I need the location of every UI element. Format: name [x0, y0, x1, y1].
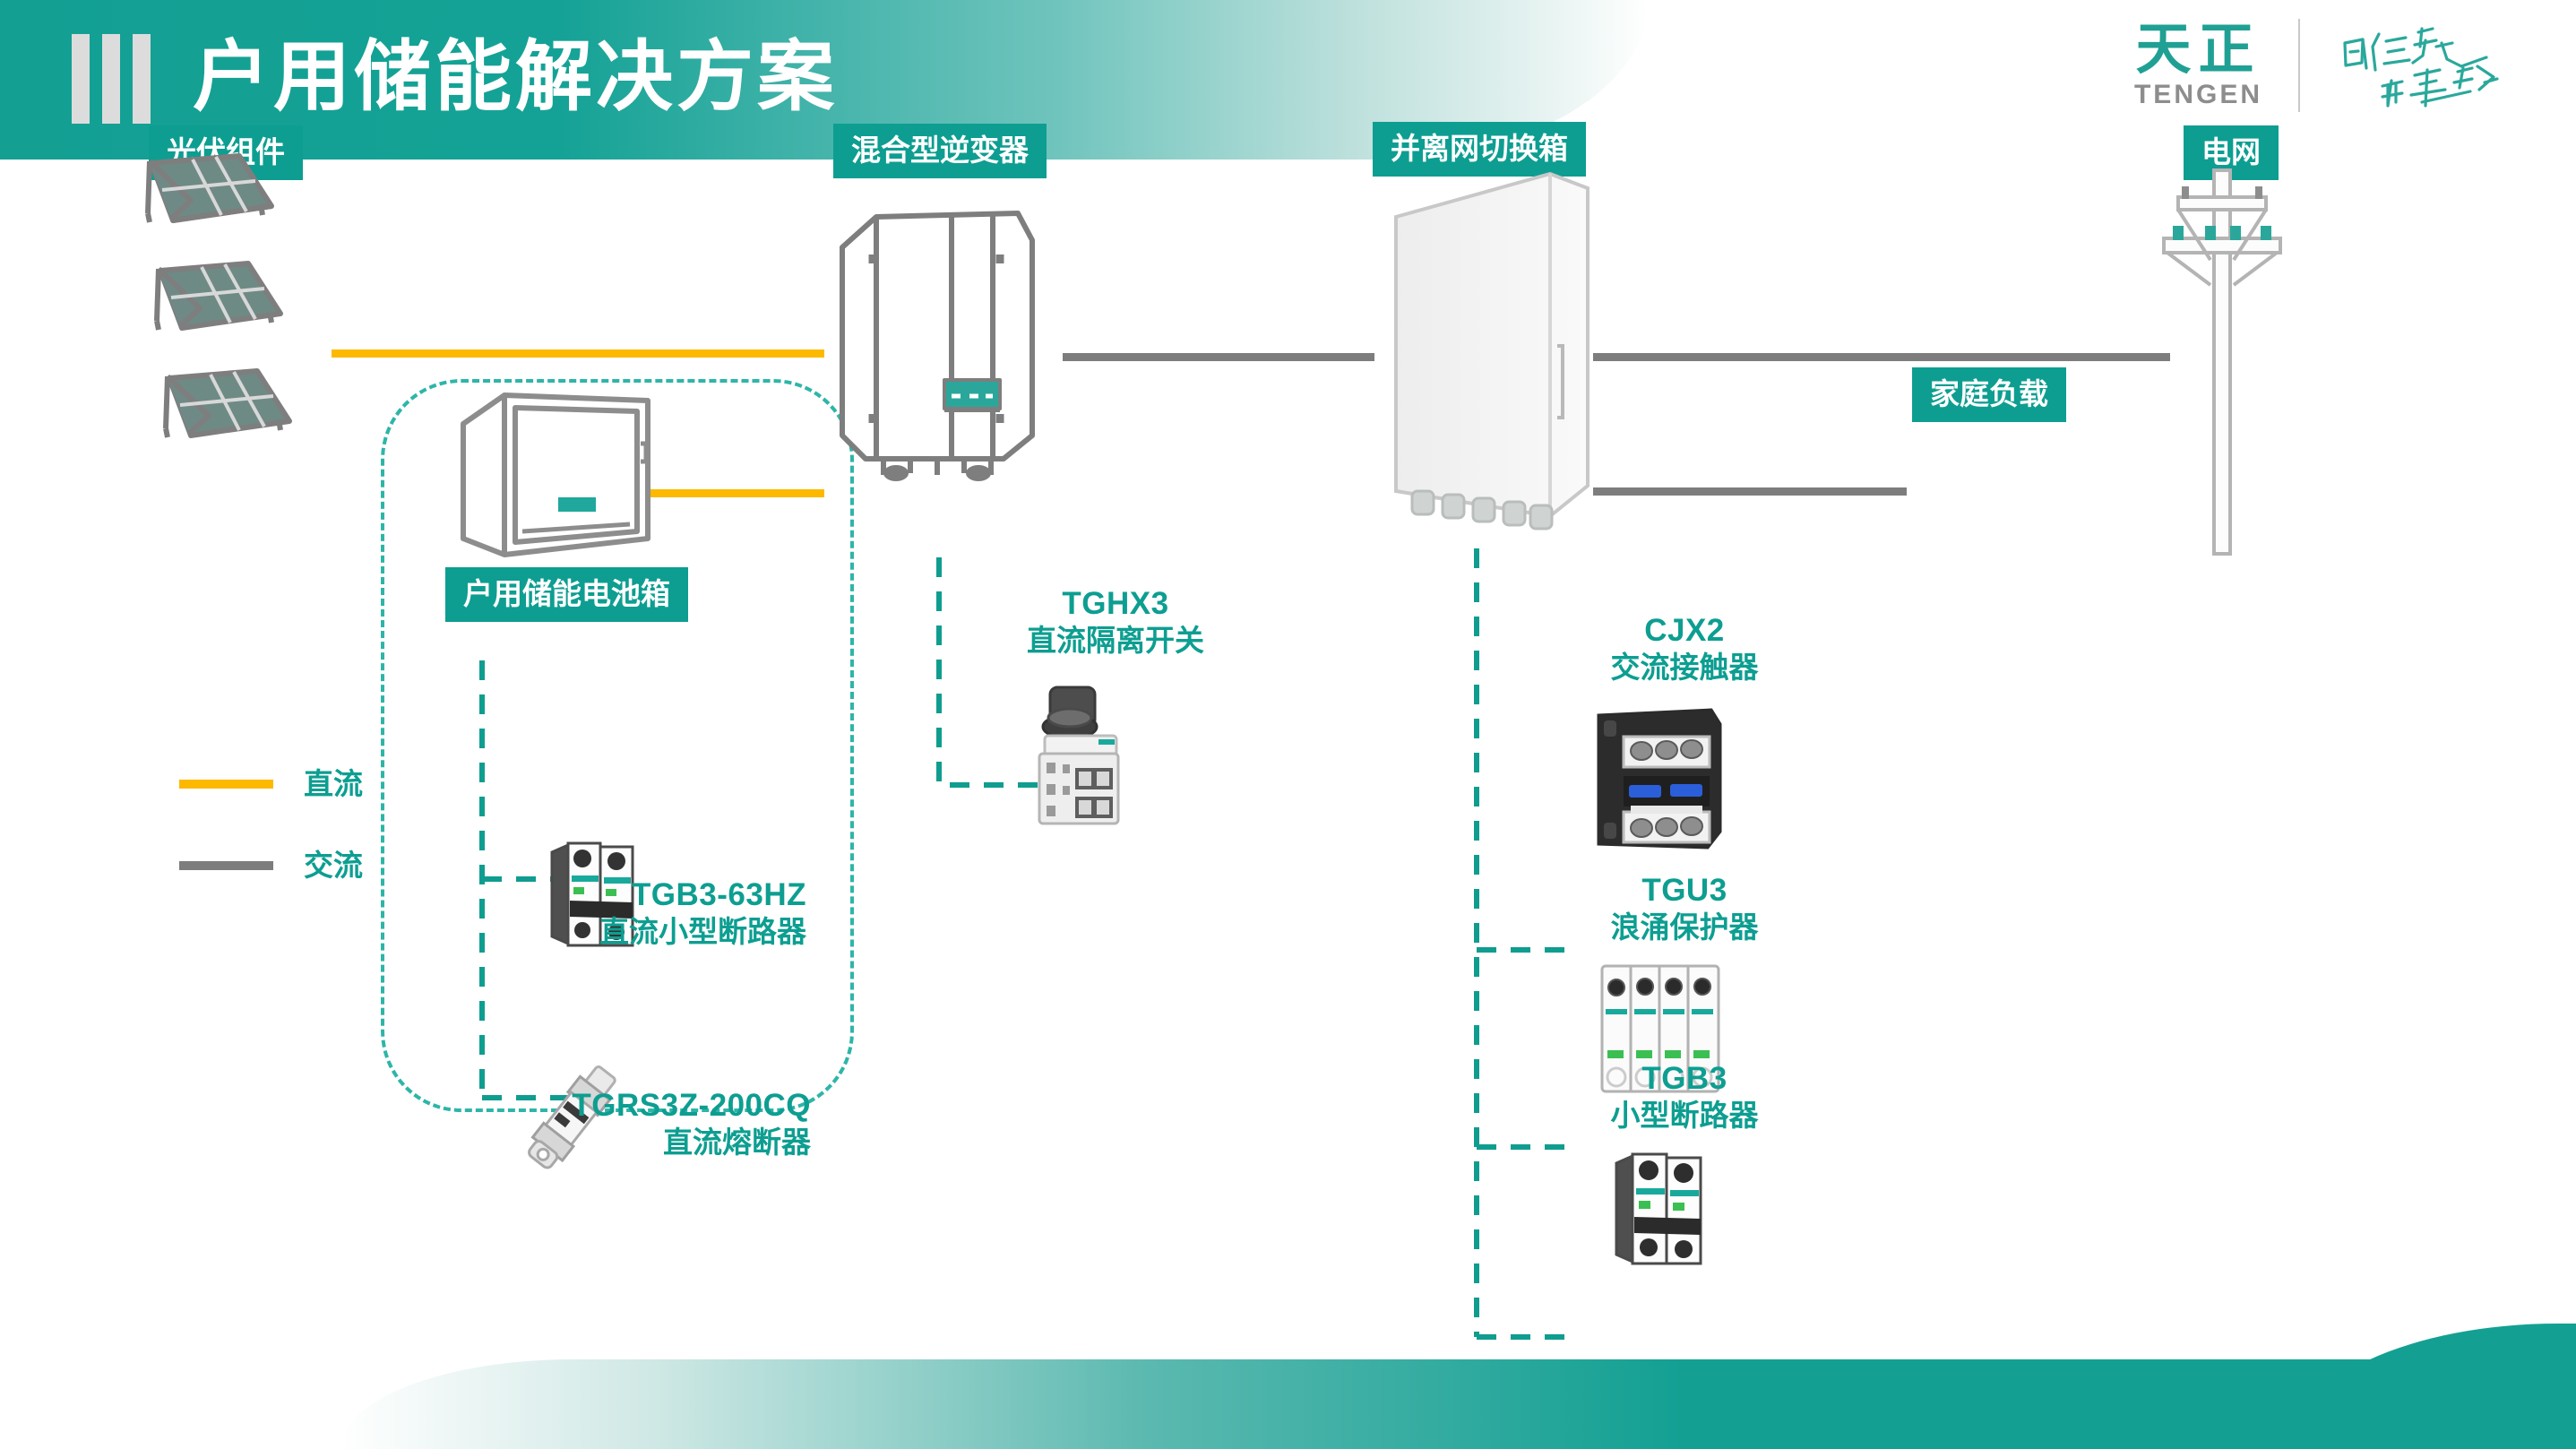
battery-cabinet-icon [452, 388, 659, 581]
product-desc-dc-mcb: 直流小型断路器 [430, 914, 806, 950]
product-desc-dc-isolator: 直流隔离开关 [968, 623, 1263, 659]
mcb-product-icon [1602, 1145, 1719, 1271]
logo-divider [2298, 19, 2300, 112]
header-bar-2 [102, 34, 120, 124]
wire-switchbox-to-grid-ac [1593, 353, 2170, 361]
legend-label-ac: 交流 [304, 850, 363, 880]
product-desc-contactor: 交流接触器 [1550, 650, 1819, 686]
grid-switch-box-icon [1380, 167, 1604, 543]
legend-item-ac: 交流 [179, 850, 363, 880]
hybrid-inverter-icon [833, 204, 1057, 482]
footer-gradient-bar [340, 1359, 2576, 1449]
product-desc-dc-fuse: 直流熔断器 [408, 1125, 811, 1160]
product-code-dc-mcb: TGB3-63HZ [430, 876, 806, 914]
logo-english-name: TENGEN [2134, 80, 2262, 110]
page-title: 户用储能解决方案 [193, 22, 838, 134]
product-label-mcb: TGB3 小型断路器 [1550, 1060, 1819, 1134]
logo-chinese-name: 天正 [2135, 21, 2261, 80]
legend-label-dc: 直流 [304, 769, 363, 798]
wire-pv-to-inverter-dc [332, 349, 824, 358]
station-label-inverter: 混合型逆变器 [833, 124, 1047, 178]
product-code-dc-fuse: TGRS3Z-200CQ [408, 1087, 811, 1125]
product-code-spd: TGU3 [1550, 872, 1819, 910]
footer-corner-curve [2289, 1324, 2576, 1449]
header-bar-1 [72, 34, 90, 124]
header-bar-3 [133, 34, 151, 124]
product-desc-mcb: 小型断路器 [1550, 1098, 1819, 1134]
logo-mark: 天正 TENGEN [2134, 21, 2262, 110]
dc-isolator-product-icon [1020, 684, 1136, 827]
legend-swatch-ac [179, 861, 273, 870]
legend-swatch-dc [179, 780, 273, 789]
product-label-spd: TGU3 浪涌保护器 [1550, 872, 1819, 945]
brand-logo: 天正 TENGEN [2134, 16, 2515, 115]
product-label-dc-mcb: TGB3-63HZ 直流小型断路器 [430, 876, 806, 950]
product-label-contactor: CJX2 交流接触器 [1550, 612, 1819, 686]
product-code-dc-isolator: TGHX3 [968, 585, 1263, 623]
wire-inverter-to-switchbox-ac [1063, 353, 1374, 361]
wire-switchbox-to-homeload-ac [1593, 487, 1907, 496]
station-label-home-load: 家庭负载 [1912, 367, 2066, 422]
product-desc-spd: 浪涌保护器 [1550, 910, 1819, 945]
product-code-mcb: TGB3 [1550, 1060, 1819, 1098]
header-bars-decoration [72, 34, 151, 124]
pv-panel-array-icon [139, 151, 354, 482]
product-code-contactor: CJX2 [1550, 612, 1819, 650]
product-label-dc-fuse: TGRS3Z-200CQ 直流熔断器 [408, 1087, 811, 1160]
legend: 直流 交流 [179, 769, 363, 932]
product-label-dc-isolator: TGHX3 直流隔离开关 [968, 585, 1263, 659]
page-footer [0, 1324, 2576, 1449]
legend-item-dc: 直流 [179, 769, 363, 798]
slogan-handwriting-icon [2336, 16, 2515, 115]
utility-pole-icon [2155, 160, 2289, 554]
ac-contactor-product-icon [1577, 697, 1738, 858]
diagram-canvas: 光伏组件 户用储能电池箱 混合型逆变器 并离网切换箱 电网 家庭负载 [0, 160, 2576, 1324]
